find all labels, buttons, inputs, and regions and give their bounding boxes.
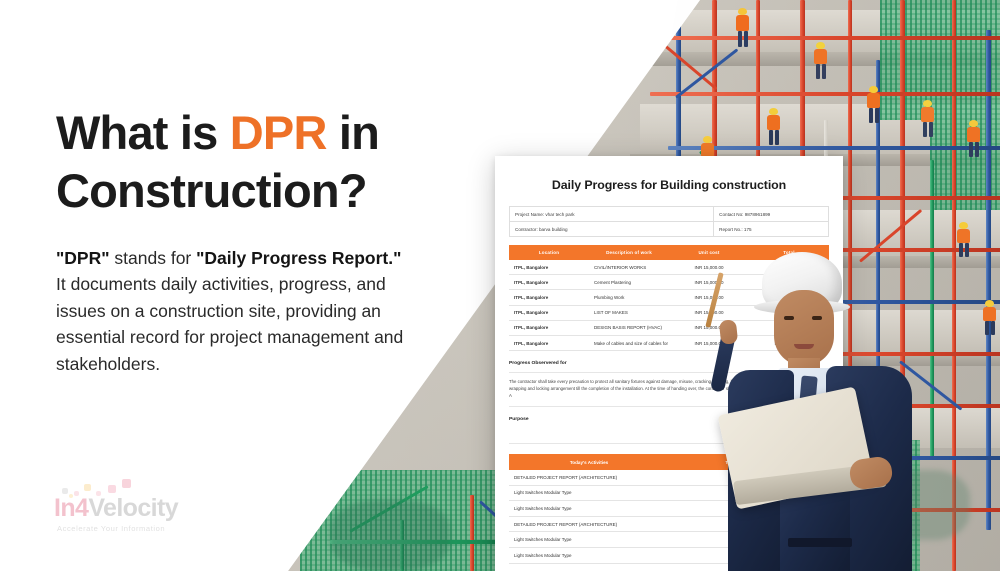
body-paragraph: "DPR" stands for "Daily Progress Report.… xyxy=(56,245,406,378)
face xyxy=(774,290,834,366)
cell-today: Light Switches Modular Type xyxy=(509,501,669,517)
table-row: Project Name: vhar tech park Contact No:… xyxy=(510,207,829,222)
body-text-1: stands for xyxy=(110,248,197,268)
cell-today: Light Switches Modular Type xyxy=(509,532,669,548)
document-title: Daily Progress for Building construction xyxy=(509,156,829,206)
pen-icon xyxy=(705,272,723,328)
col-description: Description of work xyxy=(589,245,669,260)
meta-project-name: Project Name: vhar tech park xyxy=(510,207,714,222)
in4velocity-logo[interactable]: In4Velocity Accelerate Your Information xyxy=(54,478,194,533)
document-meta-table: Project Name: vhar tech park Contact No:… xyxy=(509,206,829,237)
cell-description: Make of cables and size of cables for xyxy=(589,336,669,351)
cell-location: ITPL, Bangalore xyxy=(509,336,589,351)
hand-pointing xyxy=(719,319,738,345)
logo-name-pink: In4 xyxy=(54,494,88,522)
body-bold-dpr: "DPR" xyxy=(56,248,110,268)
cell-description: Cement Plastering xyxy=(589,275,669,290)
poster-canvas: What is DPR in Construction? "DPR" stand… xyxy=(0,0,1000,571)
headline-accent-dpr: DPR xyxy=(230,106,327,159)
headline-line1-pre: What is xyxy=(56,106,230,159)
site-worker xyxy=(866,86,882,124)
table-row: Contractor: barva building Report No.: 1… xyxy=(510,222,829,237)
body-bold-report: "Daily Progress Report." xyxy=(196,248,401,268)
logo-squares-decoration xyxy=(62,478,194,498)
cell-today: DETAILED PROJECT REPORT (ARCHITECTURE) xyxy=(509,516,669,532)
site-worker xyxy=(813,42,829,80)
site-worker xyxy=(735,8,751,48)
site-worker xyxy=(966,120,982,158)
logo-name-gray: Velocity xyxy=(88,494,178,522)
cell-today: Light Switches Modular Type xyxy=(509,548,669,564)
businessman-with-hardhat xyxy=(700,250,1000,571)
site-worker xyxy=(766,108,782,146)
meta-report-no: Report No.: 175 xyxy=(714,222,829,237)
cell-location: ITPL, Bangalore xyxy=(509,260,589,275)
col-location: Location xyxy=(509,245,589,260)
cell-location: ITPL, Bangalore xyxy=(509,320,589,335)
cell-description: DESIGN BASIS REPORT (HVAC) xyxy=(589,320,669,335)
cell-location: ITPL, Bangalore xyxy=(509,305,589,320)
cell-description: CIVIL/INTERIOR WORKS xyxy=(589,260,669,275)
cell-today: Light Switches Modular Type xyxy=(509,485,669,501)
site-worker xyxy=(920,100,936,138)
col-todays-activities: Today's Activities xyxy=(509,454,669,470)
cell-description: LIST OF MAKES xyxy=(589,305,669,320)
meta-contractor: Contractor: barva building xyxy=(510,222,714,237)
logo-wordmark: In4Velocity xyxy=(54,496,194,521)
body-text-2: It documents daily activities, progress,… xyxy=(56,274,403,374)
cell-location: ITPL, Bangalore xyxy=(509,290,589,305)
headline-line1-post: in xyxy=(327,106,379,159)
meta-contact-no: Contact No: 9878961899 xyxy=(714,207,829,222)
logo-tagline: Accelerate Your Information xyxy=(57,524,194,533)
page-title: What is DPR in Construction? xyxy=(56,104,446,221)
copy-block: What is DPR in Construction? "DPR" stand… xyxy=(56,104,446,378)
cell-today: DETAILED PROJECT REPORT (ARCHITECTURE) xyxy=(509,470,669,485)
cell-location: ITPL, Bangalore xyxy=(509,275,589,290)
headline-line2: Construction? xyxy=(56,164,367,217)
cell-description: Plumbing Work xyxy=(589,290,669,305)
